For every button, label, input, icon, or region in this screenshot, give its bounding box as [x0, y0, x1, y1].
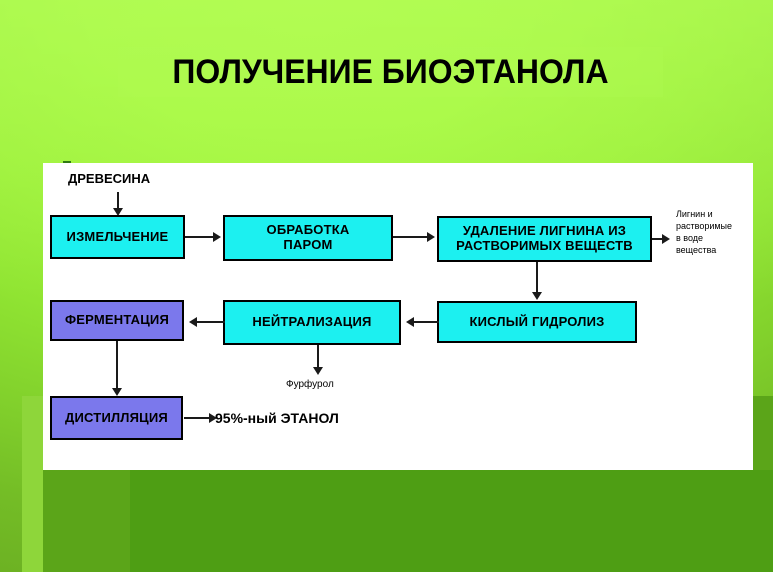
node-steam-treatment-label-line1: ОБРАБОТКА — [267, 223, 350, 238]
connector-lignin-to-note-arrow — [662, 234, 670, 244]
node-grinding[interactable]: ИЗМЕЛЬЧЕНИЕ — [50, 215, 185, 259]
node-grinding-label: ИЗМЕЛЬЧЕНИЕ — [67, 230, 169, 245]
lignin-byproduct-note-line3: в воде — [676, 232, 752, 244]
connector-neutralization-to-fermentation-line — [195, 321, 225, 323]
lignin-byproduct-note-line4: вещества — [676, 244, 752, 256]
connector-hydrolysis-to-neutralization-arrow — [406, 317, 414, 327]
node-neutralization-label: НЕЙТРАЛИЗАЦИЯ — [252, 315, 371, 330]
connector-hydrolysis-to-neutralization-line — [412, 321, 439, 323]
connector-grinding-to-steam-arrow — [213, 232, 221, 242]
connector-lignin-to-hydrolysis-arrow — [532, 292, 542, 300]
connector-steam-to-lignin-line — [393, 236, 429, 238]
slide-canvas: ПОЛУЧЕНИЕ БИОЭТАНОЛА ДРЕВЕСИНА ИЗМЕЛЬЧЕН… — [0, 0, 773, 572]
connector-fermentation-to-distillation-line — [116, 341, 118, 390]
node-lignin-removal[interactable]: УДАЛЕНИЕ ЛИГНИНА ИЗ РАСТВОРИМЫХ ВЕЩЕСТВ — [437, 216, 652, 262]
lignin-byproduct-note: Лигнин и растворимые в воде вещества — [676, 208, 752, 256]
lignin-byproduct-note-line2: растворимые — [676, 220, 752, 232]
node-lignin-removal-label-line2: РАСТВОРИМЫХ ВЕЩЕСТВ — [456, 239, 633, 254]
node-steam-treatment[interactable]: ОБРАБОТКА ПАРОМ — [223, 215, 393, 261]
connector-fermentation-to-distillation-arrow — [112, 388, 122, 396]
connector-neutralization-to-furfural-arrow — [313, 367, 323, 375]
connector-grinding-to-steam-line — [185, 236, 215, 238]
node-acid-hydrolysis[interactable]: КИСЛЫЙ ГИДРОЛИЗ — [437, 301, 637, 343]
node-fermentation-label: ФЕРМЕНТАЦИЯ — [65, 313, 169, 328]
connector-distillation-to-ethanol-line — [184, 417, 211, 419]
node-steam-treatment-label-line2: ПАРОМ — [283, 238, 332, 253]
connector-lignin-to-hydrolysis-line — [536, 262, 538, 294]
furfural-byproduct-label: Фурфурол — [286, 379, 334, 391]
final-product-label: 95%-ный ЭТАНОЛ — [215, 410, 339, 426]
connector-steam-to-lignin-arrow — [427, 232, 435, 242]
lignin-byproduct-note-line1: Лигнин и — [676, 208, 752, 220]
diagram-panel: ДРЕВЕСИНА ИЗМЕЛЬЧЕНИЕ ОБРАБОТКА ПАРОМ УД… — [43, 163, 753, 470]
node-fermentation[interactable]: ФЕРМЕНТАЦИЯ — [50, 300, 184, 341]
decor-green-strip-left — [22, 396, 44, 572]
page-title: ПОЛУЧЕНИЕ БИОЭТАНОЛА — [134, 49, 646, 95]
node-neutralization[interactable]: НЕЙТРАЛИЗАЦИЯ — [223, 300, 401, 345]
node-distillation[interactable]: ДИСТИЛЛЯЦИЯ — [50, 396, 183, 440]
diagram-input-label: ДРЕВЕСИНА — [68, 171, 150, 186]
node-distillation-label: ДИСТИЛЛЯЦИЯ — [65, 411, 168, 426]
node-lignin-removal-label-line1: УДАЛЕНИЕ ЛИГНИНА ИЗ — [463, 224, 626, 239]
connector-neutralization-to-fermentation-arrow — [189, 317, 197, 327]
decor-green-block-dark — [130, 470, 773, 572]
node-acid-hydrolysis-label: КИСЛЫЙ ГИДРОЛИЗ — [469, 315, 604, 330]
